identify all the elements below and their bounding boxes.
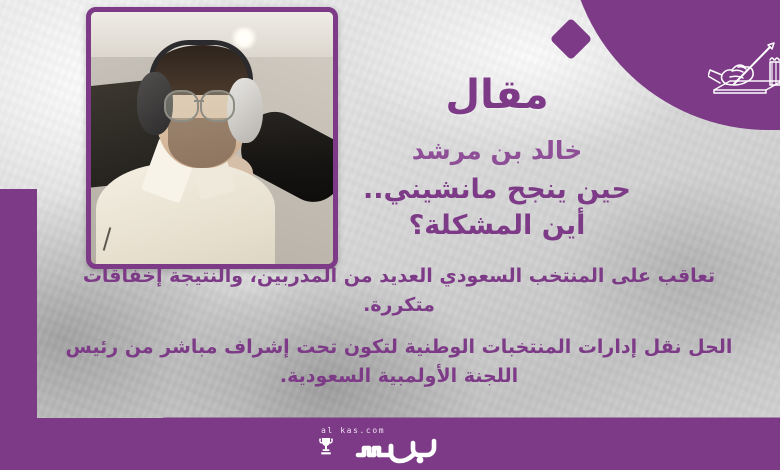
- alkas-logo[interactable]: al kas.com: [318, 426, 438, 466]
- author-name: خالد بن مرشد: [262, 136, 732, 165]
- body-paragraph-1: تعاقب على المنتخب السعودي العديد من المد…: [48, 262, 750, 320]
- left-purple-bar: [0, 189, 37, 470]
- headline-line-2: أين المشكلة؟: [258, 208, 736, 244]
- body-copy: تعاقب على المنتخب السعودي العديد من المد…: [48, 262, 750, 404]
- portrait-eyeglass-right: [200, 90, 235, 122]
- portrait-beard: [168, 118, 236, 168]
- portrait-eyeglass-bridge: [194, 100, 204, 102]
- article-card: مقال خالد بن مرشد حين ينجح مانشيني.. أين…: [0, 0, 780, 470]
- body-paragraph-2: الحل نقل إدارات المنتخبات الوطنية لتكون …: [48, 333, 750, 391]
- portrait-eyeglass-left: [164, 90, 199, 122]
- headline-line-1: حين ينجح مانشيني..: [363, 174, 631, 205]
- kicker-label: مقال: [262, 72, 732, 118]
- alkas-wordmark-icon: [346, 435, 438, 469]
- logo-domain-text: al kas.com: [321, 426, 385, 435]
- trophy-icon: [318, 437, 334, 463]
- headline: حين ينجح مانشيني.. أين المشكلة؟: [258, 172, 736, 243]
